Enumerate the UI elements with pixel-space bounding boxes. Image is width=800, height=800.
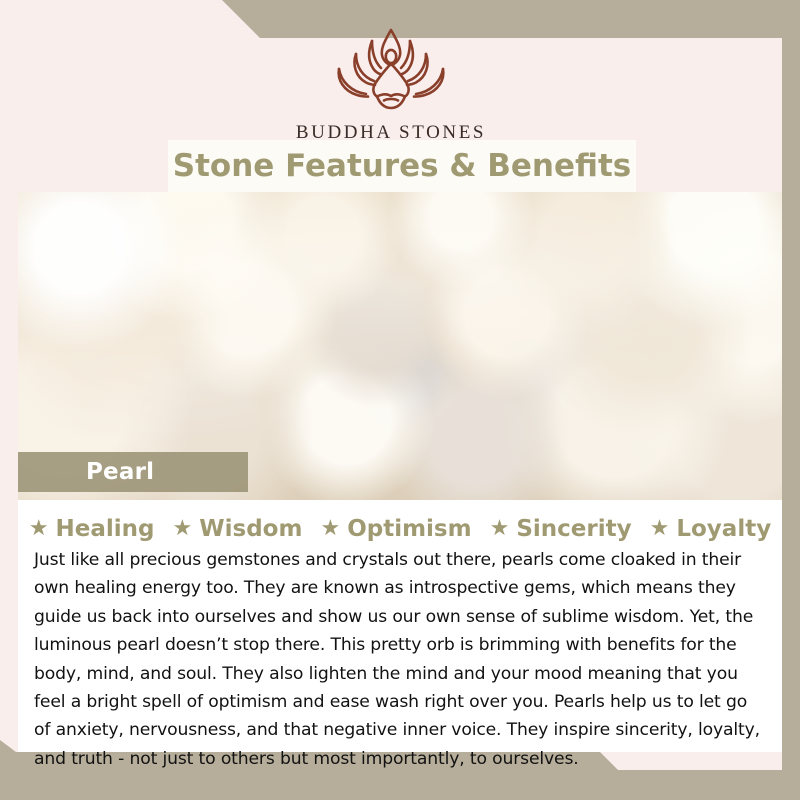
feature-item-healing: ★ Healing xyxy=(29,516,155,542)
feature-label: Healing xyxy=(56,516,155,542)
stone-name-band: Pearl xyxy=(18,452,248,492)
feature-item-optimism: ★ Optimism xyxy=(320,516,471,542)
feature-label: Sincerity xyxy=(516,516,631,542)
title-banner: Stone Features & Benefits xyxy=(168,140,636,192)
lotus-meditation-figure-icon xyxy=(332,24,450,116)
star-icon: ★ xyxy=(29,518,49,540)
description-paragraph: Just like all precious gemstones and cry… xyxy=(34,546,766,773)
brand-logo-block: BUDDHA STONES xyxy=(0,24,782,144)
feature-item-loyalty: ★ Loyalty xyxy=(650,516,772,542)
star-icon: ★ xyxy=(650,518,670,540)
content-panel: ★ Healing ★ Wisdom ★ Optimism ★ Sincerit… xyxy=(18,500,782,752)
page-title: Stone Features & Benefits xyxy=(173,148,631,184)
star-icon: ★ xyxy=(320,518,340,540)
stone-name-label: Pearl xyxy=(86,459,154,485)
poster-root: BUDDHA STONES Stone Features & Benefits … xyxy=(0,0,800,800)
feature-item-wisdom: ★ Wisdom xyxy=(173,516,303,542)
feature-item-sincerity: ★ Sincerity xyxy=(490,516,632,542)
feature-label: Wisdom xyxy=(199,516,302,542)
star-icon: ★ xyxy=(490,518,510,540)
star-icon: ★ xyxy=(173,518,193,540)
features-row: ★ Healing ★ Wisdom ★ Optimism ★ Sincerit… xyxy=(18,500,782,544)
feature-label: Optimism xyxy=(347,516,471,542)
feature-label: Loyalty xyxy=(676,516,771,542)
